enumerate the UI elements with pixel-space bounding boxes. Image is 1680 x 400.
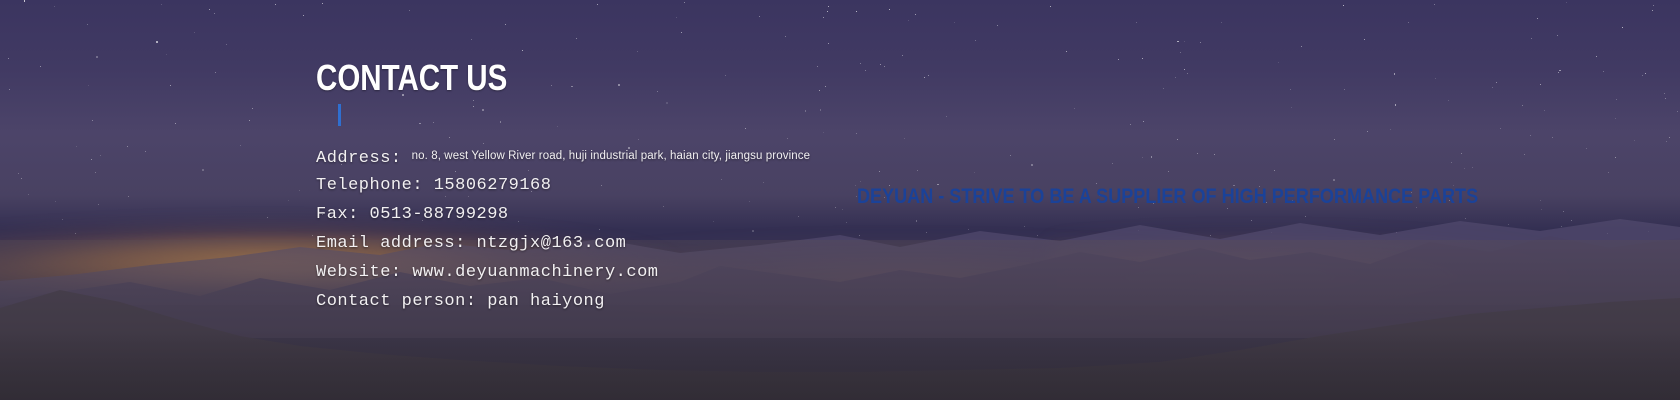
contact-value-address: no. 8, west Yellow River road, huji indu…: [402, 150, 810, 162]
contact-label-website: Website:: [316, 263, 402, 282]
contact-value-person: pan haiyong: [487, 292, 605, 311]
contact-banner: CONTACT US Address:no. 8, west Yellow Ri…: [0, 0, 1680, 400]
contact-row-person: Contact person: pan haiyong: [316, 287, 810, 316]
contact-row-telephone: Telephone: 15806279168: [316, 171, 810, 200]
contact-value-website[interactable]: www.deyuanmachinery.com: [412, 263, 658, 282]
contact-row-website: Website: www.deyuanmachinery.com: [316, 258, 810, 287]
contact-row-fax: Fax: 0513-88799298: [316, 200, 810, 229]
contact-label-email: Email address:: [316, 234, 466, 253]
page-title: CONTACT US: [316, 58, 507, 98]
contact-details-list: Address:no. 8, west Yellow River road, h…: [316, 142, 810, 316]
contact-label-fax: Fax:: [316, 205, 359, 224]
contact-row-email: Email address: ntzgjx@163.com: [316, 229, 810, 258]
company-tagline: DEYUAN - STRIVE TO BE A SUPPLIER OF HIGH…: [857, 184, 1478, 209]
contact-value-email[interactable]: ntzgjx@163.com: [477, 234, 627, 253]
contact-label-telephone: Telephone:: [316, 176, 423, 195]
contact-label-person: Contact person:: [316, 292, 477, 311]
title-accent-bar: [338, 104, 341, 126]
contact-row-address: Address:no. 8, west Yellow River road, h…: [316, 142, 810, 171]
contact-value-fax: 0513-88799298: [370, 205, 509, 224]
contact-label-address: Address:: [316, 149, 402, 168]
contact-value-telephone: 15806279168: [434, 176, 552, 195]
banner-content: CONTACT US Address:no. 8, west Yellow Ri…: [0, 0, 1680, 400]
